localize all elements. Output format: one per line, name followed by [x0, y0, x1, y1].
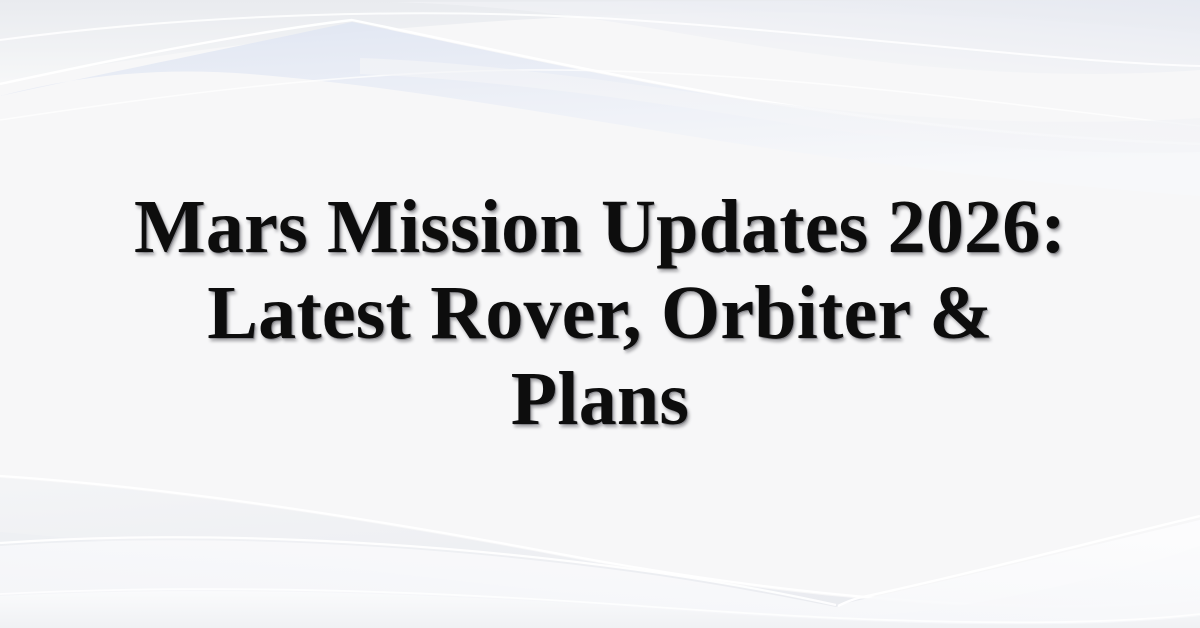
page-title: Mars Mission Updates 2026: Latest Rover,…	[90, 185, 1110, 443]
social-card: Mars Mission Updates 2026: Latest Rover,…	[0, 0, 1200, 628]
title-container: Mars Mission Updates 2026: Latest Rover,…	[0, 0, 1200, 628]
